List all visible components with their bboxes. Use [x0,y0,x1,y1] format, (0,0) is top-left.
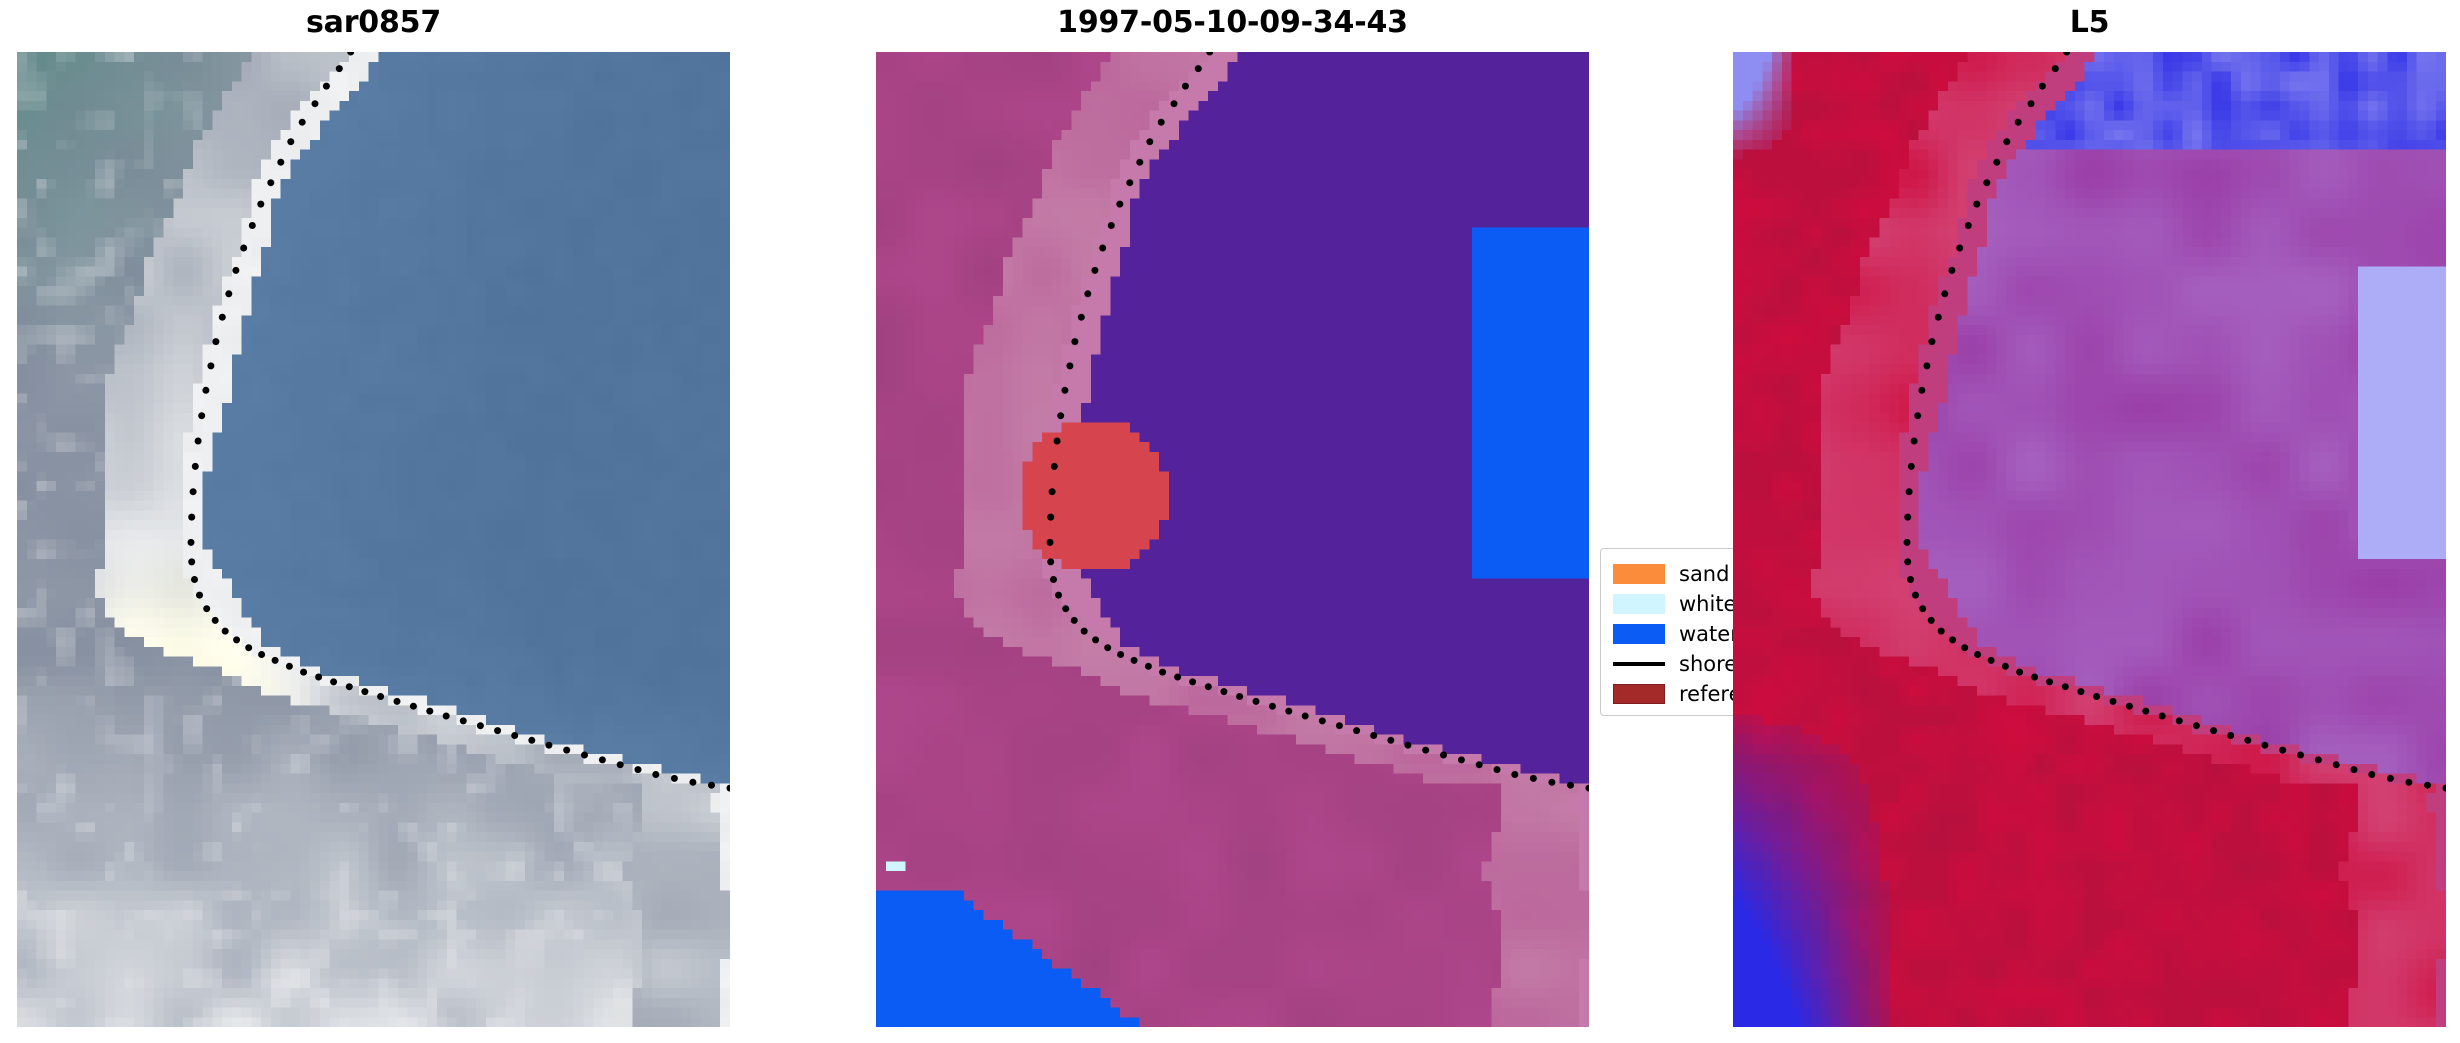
legend-item-reference[interactable]: referen [1613,679,1733,709]
panel-image-classified[interactable] [876,52,1589,1027]
legend-swatch-reference [1613,684,1665,704]
legend-swatch-sand [1613,564,1665,584]
panel-title-0: sar0857 [17,4,730,42]
legend-label-whitewater: whitew [1679,592,1733,616]
legend-item-water[interactable]: water [1613,619,1733,649]
legend-label-reference: referen [1679,682,1733,706]
legend: sandwhitewwatershorelireferen [1600,548,1733,716]
legend-label-sand: sand [1679,562,1729,586]
panel-sar0857: sar0857 [17,0,730,1027]
raster-classification [876,52,1589,1027]
raster-l5-falsecolor [1733,52,2446,1027]
legend-clip-region: sandwhitewwatershorelireferen [1600,548,1733,724]
figure-canvas: sar0857 1997-05-10-09-34-43 L5 sandwhite… [0,0,2460,1043]
legend-label-shoreline: shoreli [1679,652,1733,676]
panel-l5: L5 [1733,0,2446,1027]
legend-item-whitewater[interactable]: whitew [1613,589,1733,619]
legend-label-water: water [1679,622,1733,646]
legend-swatch-whitewater [1613,594,1665,614]
legend-item-shoreline[interactable]: shoreli [1613,649,1733,679]
legend-swatch-shoreline [1613,654,1665,674]
legend-swatch-water [1613,624,1665,644]
legend-item-sand[interactable]: sand [1613,559,1733,589]
panel-image-l5[interactable] [1733,52,2446,1027]
panel-title-2: L5 [1733,4,2446,42]
panel-classification: 1997-05-10-09-34-43 [876,0,1589,1027]
panel-title-1: 1997-05-10-09-34-43 [876,4,1589,42]
panel-image-rgb[interactable] [17,52,730,1027]
raster-rgb-composite [17,52,730,1027]
